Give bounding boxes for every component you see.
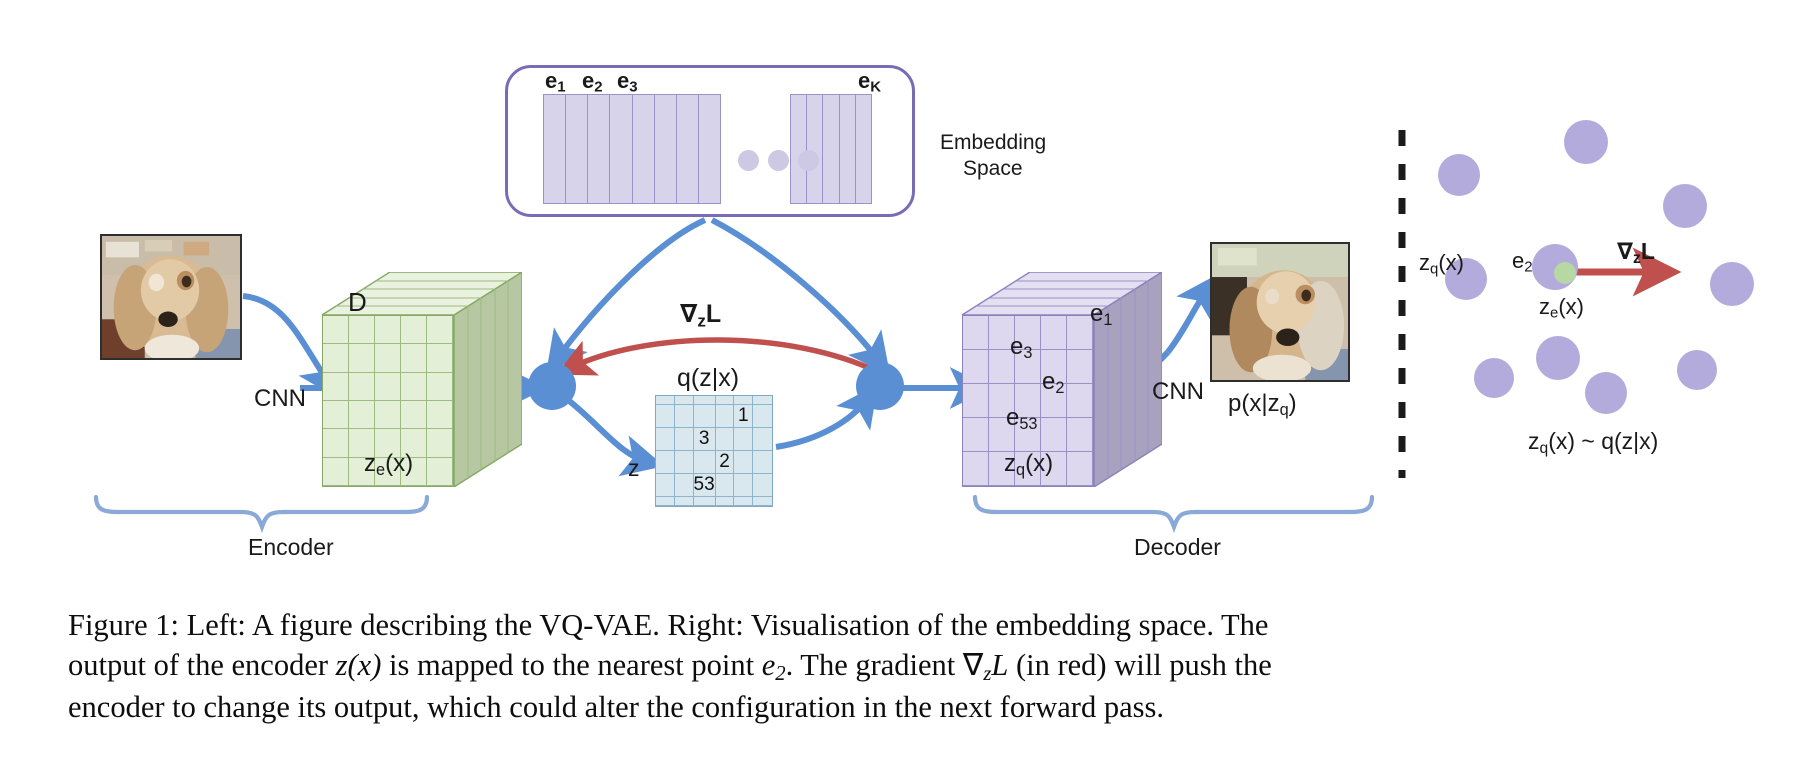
grid-cell [656,451,675,474]
grid-cell [734,474,753,497]
codebook-label-eK: eK [858,68,881,96]
grid-cell [694,405,716,428]
grid-cell [675,474,694,497]
embedding-dot [1564,120,1608,164]
codebook-label-e3: e3 [617,68,638,96]
right-nearest-embedding-label: e2 [1512,248,1533,276]
posterior-label: q(z|x) [677,364,739,393]
embedding-space-title-line2: Space [963,157,1023,181]
figure-canvas: e1 e2 e3 eK Embedding Space [0,0,1800,760]
right-zq-label: zq(x) [1419,250,1464,278]
grid-cell [716,396,735,405]
grid-cell [656,497,675,506]
grid-cell [694,451,716,474]
gradient-label-left: ∇zL [680,300,721,331]
grid-cell: 1 [734,405,753,428]
quantized-cell-label-e3: e3 [1010,333,1032,363]
codebook-entries-first [543,94,721,204]
posterior-grid: 1 3 2 53 [655,395,773,507]
input-image [100,234,242,360]
grid-cell [675,428,694,451]
embedding-dot [1438,154,1480,196]
caption-line-2: output of the encoder z(x) is mapped to … [68,646,1758,688]
grid-cell [694,497,716,506]
embedding-dot [1585,372,1627,414]
grid-cell [734,396,753,405]
depth-label-D: D [348,288,367,318]
grid-cell [734,497,753,506]
grid-cell [675,396,694,405]
decoder-brace-label: Decoder [1134,534,1221,560]
encoder-volume-label: ze(x) [364,450,413,480]
encoder-output-dot [1554,262,1576,284]
grid-cell [716,405,735,428]
codebook-entries-last [790,94,872,204]
quantization-node-left [528,362,576,410]
codebook-label-e2: e2 [582,68,603,96]
grid-cell [716,428,735,451]
caption-line-1: Figure 1: Left: A figure describing the … [68,606,1758,646]
quantization-node-right [856,362,904,410]
grid-cell [716,474,735,497]
grid-cell [753,396,772,405]
grid-cell [675,405,694,428]
reconstruction-label: p(x|zq) [1228,390,1297,420]
right-ze-label: ze(x) [1539,294,1584,322]
encoder-brace-label: Encoder [248,534,334,560]
ellipsis-dot-3 [798,150,819,171]
quantized-volume-label: zq(x) [1004,450,1053,480]
cnn-decoder-label: CNN [1152,378,1204,406]
reconstructed-image [1210,242,1350,382]
latent-axis-label: z [628,455,640,481]
embedding-dot [1474,358,1514,398]
grid-cell [753,451,772,474]
quantized-cell-label-e1: e1 [1090,300,1112,330]
grid-cell [734,451,753,474]
codebook-label-e1: e1 [545,68,566,96]
embedding-dot [1536,336,1580,380]
grid-cell [753,428,772,451]
embedding-dot [1710,262,1754,306]
caption-line-3: encoder to change its output, which coul… [68,688,1758,728]
quantized-cell-label-e2: e2 [1042,368,1064,398]
grid-cell [656,396,675,405]
grid-cell [675,497,694,506]
grid-cell [656,474,675,497]
grid-cell [656,405,675,428]
grid-cell [734,428,753,451]
ellipsis-dot-2 [768,150,789,171]
right-bottom-label: zq(x) ~ q(z|x) [1528,428,1658,458]
grid-cell [753,405,772,428]
grid-cell: 53 [694,474,716,497]
embedding-dot [1677,350,1717,390]
figure-caption: Figure 1: Left: A figure describing the … [68,606,1758,728]
grid-cell: 3 [694,428,716,451]
quantized-cell-label-e53: e53 [1006,404,1038,434]
grid-cell: 2 [716,451,735,474]
grid-cell [675,451,694,474]
grid-cell [694,396,716,405]
cnn-encoder-label: CNN [254,385,306,413]
right-gradient-label: ∇zL [1617,238,1655,268]
ellipsis-dot-1 [738,150,759,171]
embedding-space-title-line1: Embedding [940,131,1046,155]
grid-cell [716,497,735,506]
grid-cell [753,474,772,497]
embedding-dot [1663,184,1707,228]
grid-cell [753,497,772,506]
grid-cell [656,428,675,451]
